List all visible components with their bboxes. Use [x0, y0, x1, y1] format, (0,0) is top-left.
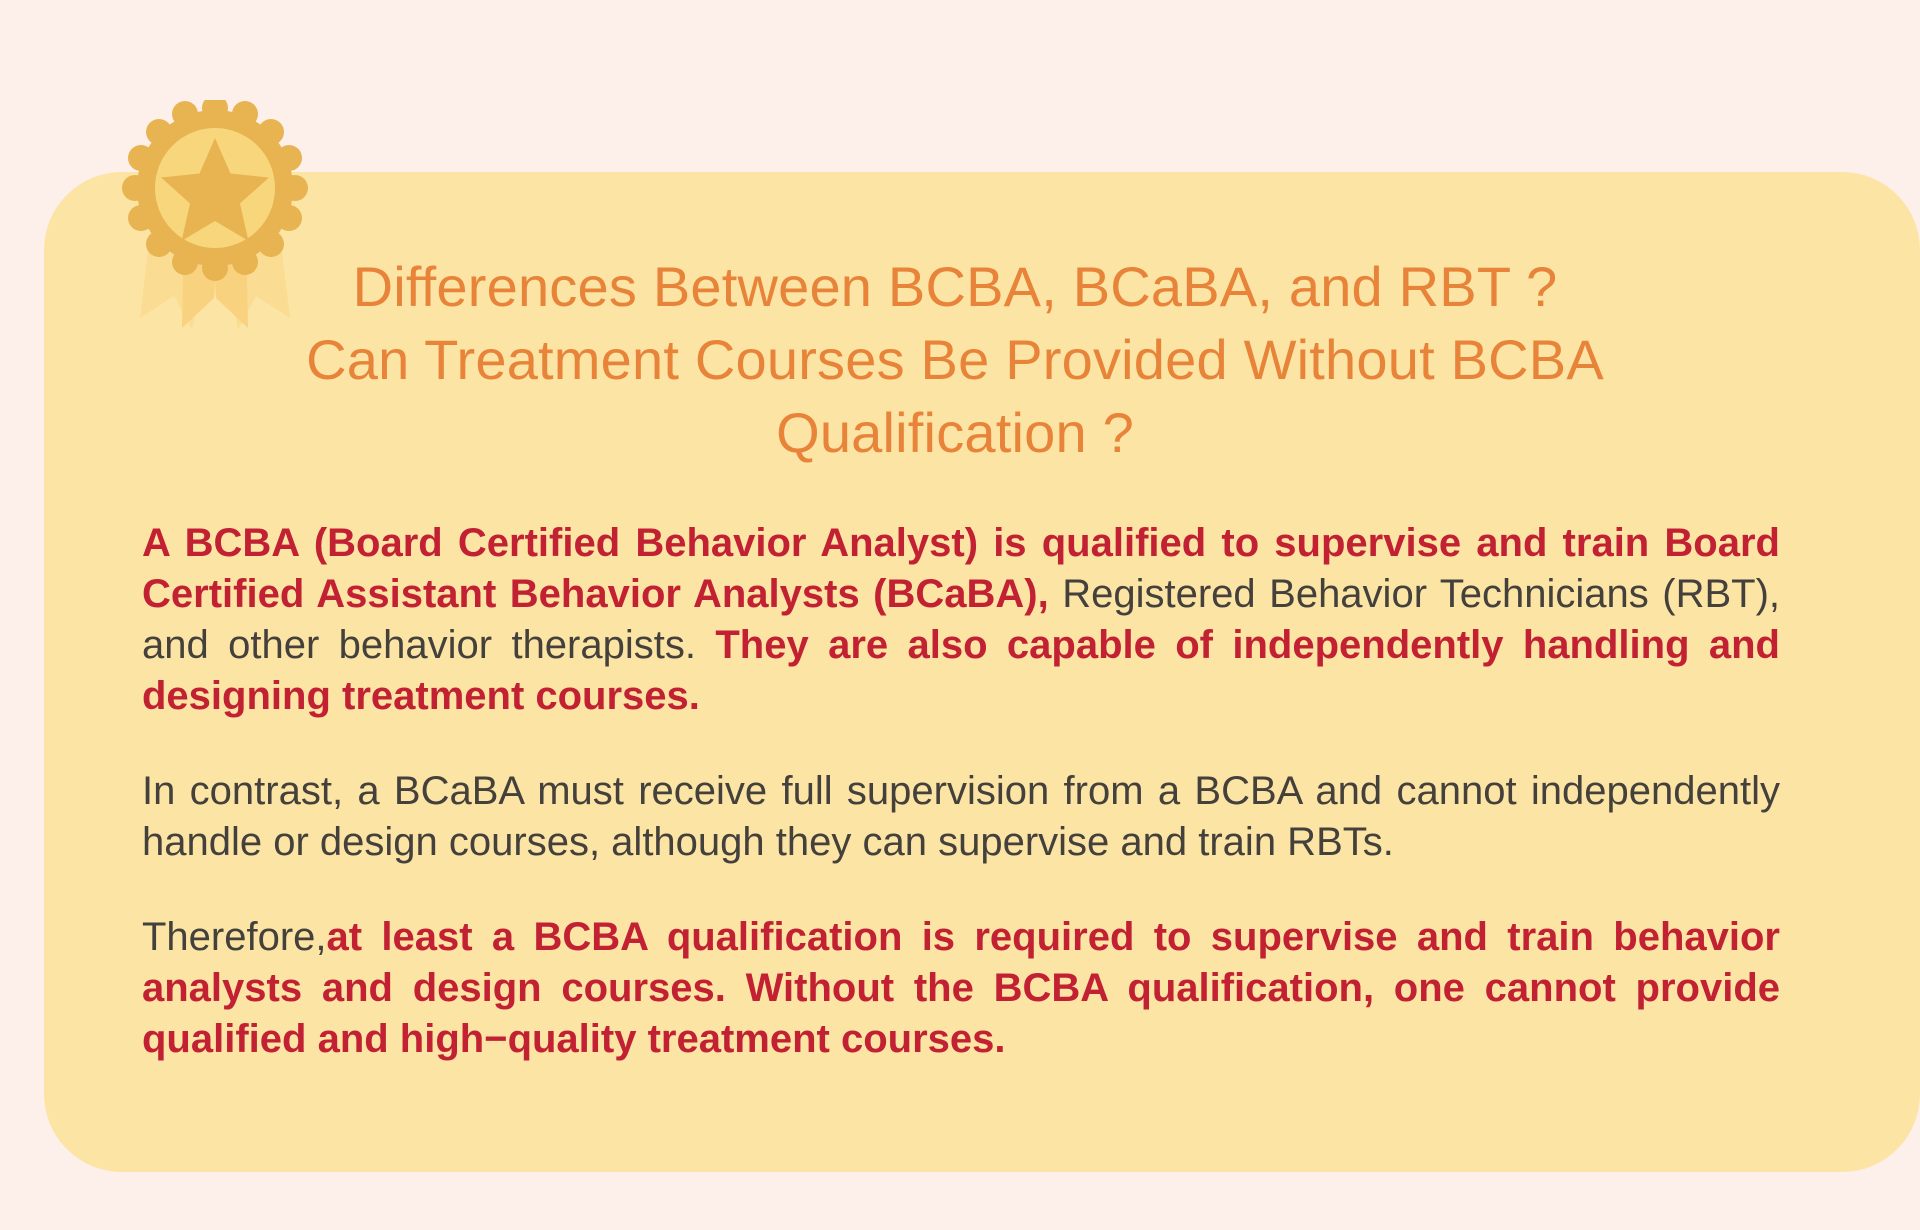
title-line-2: Can Treatment Courses Be Provided Withou… — [255, 323, 1655, 396]
title-line-1: Differences Between BCBA, BCaBA, and RBT… — [255, 250, 1655, 323]
text-run-1: In contrast, a BCaBA must receive full s… — [142, 769, 1780, 864]
paragraph-2: In contrast, a BCaBA must receive full s… — [142, 766, 1780, 868]
paragraph-1: A BCBA (Board Certified Behavior Analyst… — [142, 518, 1780, 722]
title-line-3: Qualification ? — [255, 396, 1655, 469]
page-root: Differences Between BCBA, BCaBA, and RBT… — [0, 0, 1920, 1230]
page-title: Differences Between BCBA, BCaBA, and RBT… — [255, 250, 1655, 469]
paragraph-3: Therefore,at least a BCBA qualification … — [142, 912, 1780, 1065]
text-run-1: Therefore, — [142, 915, 327, 959]
text-run-2: at least a BCBA qualification is require… — [142, 915, 1780, 1061]
award-ribbon-icon — [122, 100, 308, 330]
body-content: A BCBA (Board Certified Behavior Analyst… — [142, 518, 1780, 1065]
